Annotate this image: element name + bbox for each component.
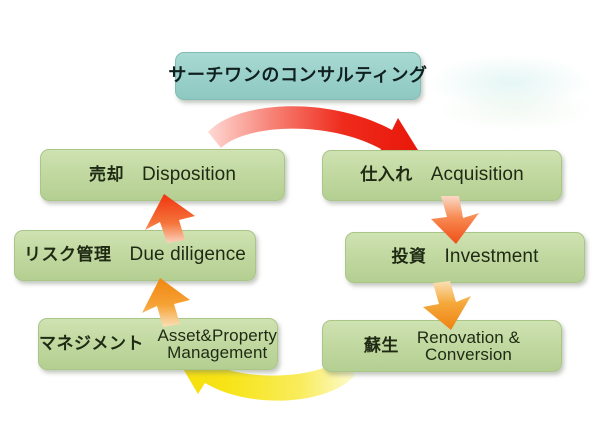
node-management-label-jp: マネジメント (39, 335, 144, 353)
node-due-diligence-label-jp: リスク管理 (24, 246, 112, 264)
node-consulting[interactable]: サーチワンのコンサルティング (175, 52, 421, 100)
node-investment[interactable]: 投資 Investment (345, 232, 585, 283)
node-disposition[interactable]: 売却 Disposition (40, 149, 285, 201)
watermark-blotch-upper (430, 55, 590, 110)
node-consulting-label: サーチワンのコンサルティング (168, 66, 427, 85)
node-management-label-en: Asset&Property Management (157, 327, 277, 361)
node-due-diligence[interactable]: リスク管理 Due diligence (14, 230, 256, 281)
node-due-diligence-label-en: Due diligence (130, 245, 246, 265)
node-disposition-label-jp: 売却 (89, 166, 124, 184)
node-renovation-label-en: Renovation & Conversion (417, 329, 520, 363)
node-acquisition-label-en: Acquisition (431, 165, 524, 185)
node-acquisition[interactable]: 仕入れ Acquisition (322, 150, 562, 201)
node-renovation-label-jp: 蘇生 (364, 337, 399, 355)
node-acquisition-label-jp: 仕入れ (360, 166, 413, 184)
diagram-canvas: サーチワンのコンサルティング 売却 Disposition 仕入れ Acquis… (0, 0, 600, 424)
watermark-blotch-lower (440, 90, 590, 130)
node-investment-label-jp: 投資 (392, 248, 427, 266)
node-renovation[interactable]: 蘇生 Renovation & Conversion (322, 320, 562, 372)
node-management[interactable]: マネジメント Asset&Property Management (38, 318, 278, 370)
node-investment-label-en: Investment (445, 247, 539, 267)
node-disposition-label-en: Disposition (142, 165, 236, 185)
